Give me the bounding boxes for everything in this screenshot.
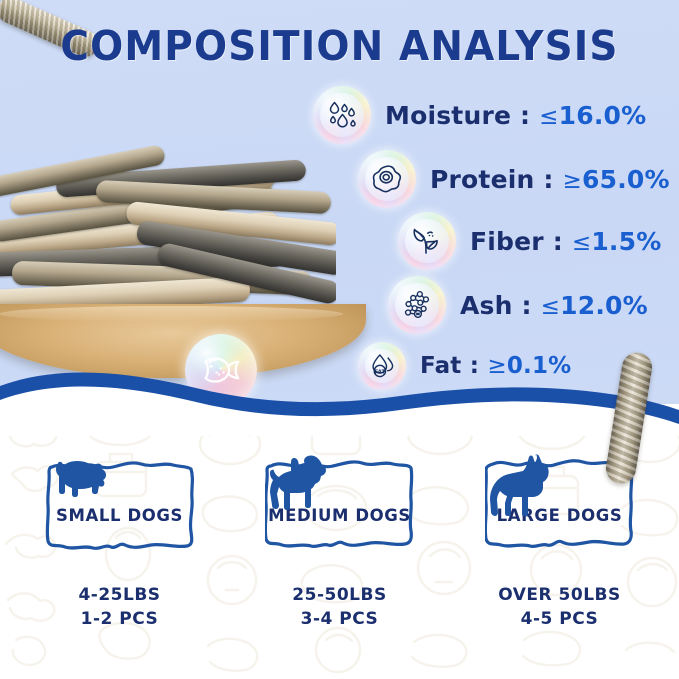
composition-row-fiber: Fiber : ≤1.5% (398, 212, 661, 270)
small-dog-details: 4-25LBS 1-2 PCS (78, 583, 160, 631)
ash-separator: : (522, 291, 532, 320)
large-dog-weight: OVER 50LBS (498, 583, 620, 607)
small-dog-weight: 4-25LBS (78, 583, 160, 607)
fiber-label: Fiber (470, 227, 544, 256)
feeding-guide-panel: SMALL DOGS 4-25LBS 1-2 PCS (0, 404, 679, 679)
composition-row-moisture: Moisture : ≤16.0% (313, 86, 646, 144)
medium-dog-details: 25-50LBS 3-4 PCS (292, 583, 386, 631)
dog-size-cards: SMALL DOGS 4-25LBS 1-2 PCS (0, 454, 679, 631)
fiber-relation: ≤ (572, 230, 591, 256)
large-dog-pieces: 4-5 PCS (498, 607, 620, 631)
moisture-text: Moisture : ≤16.0% (385, 101, 646, 130)
fiber-text: Fiber : ≤1.5% (470, 227, 661, 256)
leaf-sprout-icon (410, 224, 444, 258)
fiber-separator: : (553, 227, 563, 256)
protein-bubble (358, 150, 416, 208)
page-title: COMPOSITION ANALYSIS (17, 22, 662, 70)
ash-value: 12.0% (560, 291, 648, 320)
dog-size-card-small[interactable]: SMALL DOGS 4-25LBS 1-2 PCS (25, 454, 215, 631)
dog-size-card-medium[interactable]: MEDIUM DOGS 25-50LBS 3-4 PCS (245, 454, 435, 631)
ash-label: Ash (460, 291, 513, 320)
medium-dog-icon (265, 454, 331, 510)
water-drops-icon (325, 98, 359, 132)
molecule-icon (401, 289, 433, 321)
composition-list: Moisture : ≤16.0% Protein : ≥6 (300, 80, 679, 400)
medium-dog-weight: 25-50LBS (292, 583, 386, 607)
moisture-separator: : (520, 101, 530, 130)
fried-egg-icon (370, 162, 404, 196)
fiber-value: 1.5% (591, 227, 661, 256)
moisture-bubble (313, 86, 371, 144)
large-dog-icon (485, 454, 555, 516)
fish-skin-stick-pile (0, 128, 336, 324)
composition-row-ash: Ash : ≤12.0% (388, 276, 648, 334)
composition-panel: COMPOSITION ANALYSIS (0, 0, 679, 418)
fiber-bubble (398, 212, 456, 270)
protein-label: Protein (430, 165, 535, 194)
small-dog-frame: SMALL DOGS (45, 454, 195, 569)
moisture-label: Moisture (385, 101, 511, 130)
composition-row-protein: Protein : ≥65.0% (358, 150, 670, 208)
medium-dog-pieces: 3-4 PCS (292, 607, 386, 631)
ash-text: Ash : ≤12.0% (460, 291, 648, 320)
moisture-relation: ≤ (539, 104, 558, 130)
ash-bubble (388, 276, 446, 334)
small-dog-label: SMALL DOGS (56, 506, 183, 525)
small-dog-pieces: 1-2 PCS (78, 607, 160, 631)
protein-value: 65.0% (582, 165, 670, 194)
large-dog-details: OVER 50LBS 4-5 PCS (498, 583, 620, 631)
protein-separator: : (543, 165, 553, 194)
moisture-value: 16.0% (559, 101, 647, 130)
protein-text: Protein : ≥65.0% (430, 165, 670, 194)
infographic-canvas: COMPOSITION ANALYSIS (0, 0, 679, 679)
small-dog-icon (45, 454, 113, 500)
wave-divider (0, 364, 679, 436)
protein-relation: ≥ (563, 168, 582, 194)
ash-relation: ≤ (541, 294, 560, 320)
medium-dog-frame: MEDIUM DOGS (265, 454, 415, 569)
